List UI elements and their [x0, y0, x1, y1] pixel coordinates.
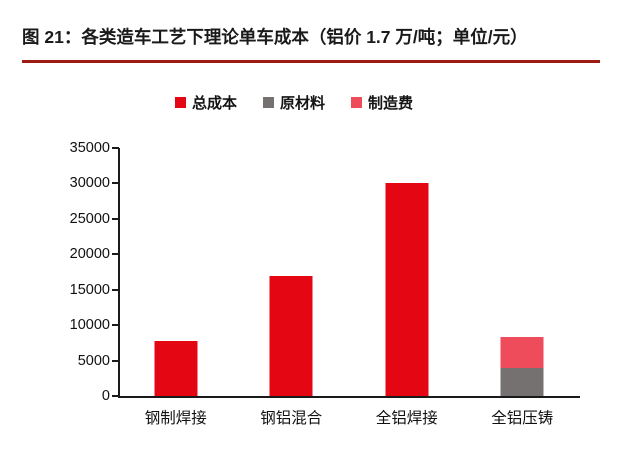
legend-swatch-raw-material: [263, 97, 274, 108]
legend-swatch-total-cost: [175, 97, 186, 108]
bar-segment-制造费[interactable]: [501, 337, 544, 367]
figure-page: 图 21：各类造车工艺下理论单车成本（铝价 1.7 万/吨；单位/元） 总成本原…: [0, 0, 640, 459]
bar-segment-总成本[interactable]: [385, 183, 428, 396]
y-axis-label-15000: 15000: [70, 282, 110, 298]
y-axis-label-5000: 5000: [78, 353, 110, 369]
legend-item-raw-material[interactable]: 原材料: [263, 92, 325, 113]
legend-label-raw-material: 原材料: [280, 92, 325, 113]
y-axis-label-35000: 35000: [70, 140, 110, 156]
page-title: 图 21：各类造车工艺下理论单车成本（铝价 1.7 万/吨；单位/元）: [22, 24, 602, 50]
chart-legend: 总成本原材料制造费: [175, 92, 413, 113]
bar-group-全铝焊接: 全铝焊接: [349, 148, 465, 396]
x-axis-label-全铝压铸: 全铝压铸: [491, 406, 553, 428]
y-axis-label-0: 0: [102, 388, 110, 404]
title-underline-rule: [22, 60, 600, 63]
bar-group-全铝压铸: 全铝压铸: [465, 148, 581, 396]
chart-plot-area: 05000100001500020000250003000035000 钢制焊接…: [118, 148, 580, 396]
bar-group-钢铝混合: 钢铝混合: [234, 148, 350, 396]
x-axis-line: [118, 396, 580, 398]
y-axis-label-30000: 30000: [70, 175, 110, 191]
y-axis-tick-labels: 05000100001500020000250003000035000: [14, 148, 110, 396]
bar-stack[interactable]: [501, 337, 544, 396]
bar-stack[interactable]: [385, 183, 428, 396]
bar-segment-总成本[interactable]: [270, 276, 313, 396]
bar-segment-原材料[interactable]: [501, 368, 544, 396]
bar-stack[interactable]: [270, 276, 313, 396]
legend-swatch-manufacturing-fee: [351, 97, 362, 108]
x-axis-label-钢制焊接: 钢制焊接: [145, 406, 207, 428]
x-axis-label-钢铝混合: 钢铝混合: [260, 406, 322, 428]
legend-item-total-cost[interactable]: 总成本: [175, 92, 237, 113]
bar-group-钢制焊接: 钢制焊接: [118, 148, 234, 396]
legend-label-total-cost: 总成本: [192, 92, 237, 113]
legend-item-manufacturing-fee[interactable]: 制造费: [351, 92, 413, 113]
bar-segment-总成本[interactable]: [154, 341, 197, 396]
bar-stack[interactable]: [154, 341, 197, 396]
y-axis-label-25000: 25000: [70, 211, 110, 227]
y-axis-label-20000: 20000: [70, 246, 110, 262]
figure-title-block: 图 21：各类造车工艺下理论单车成本（铝价 1.7 万/吨；单位/元）: [22, 24, 602, 64]
x-axis-label-全铝焊接: 全铝焊接: [376, 406, 438, 428]
legend-label-manufacturing-fee: 制造费: [368, 92, 413, 113]
y-axis-label-10000: 10000: [70, 317, 110, 333]
